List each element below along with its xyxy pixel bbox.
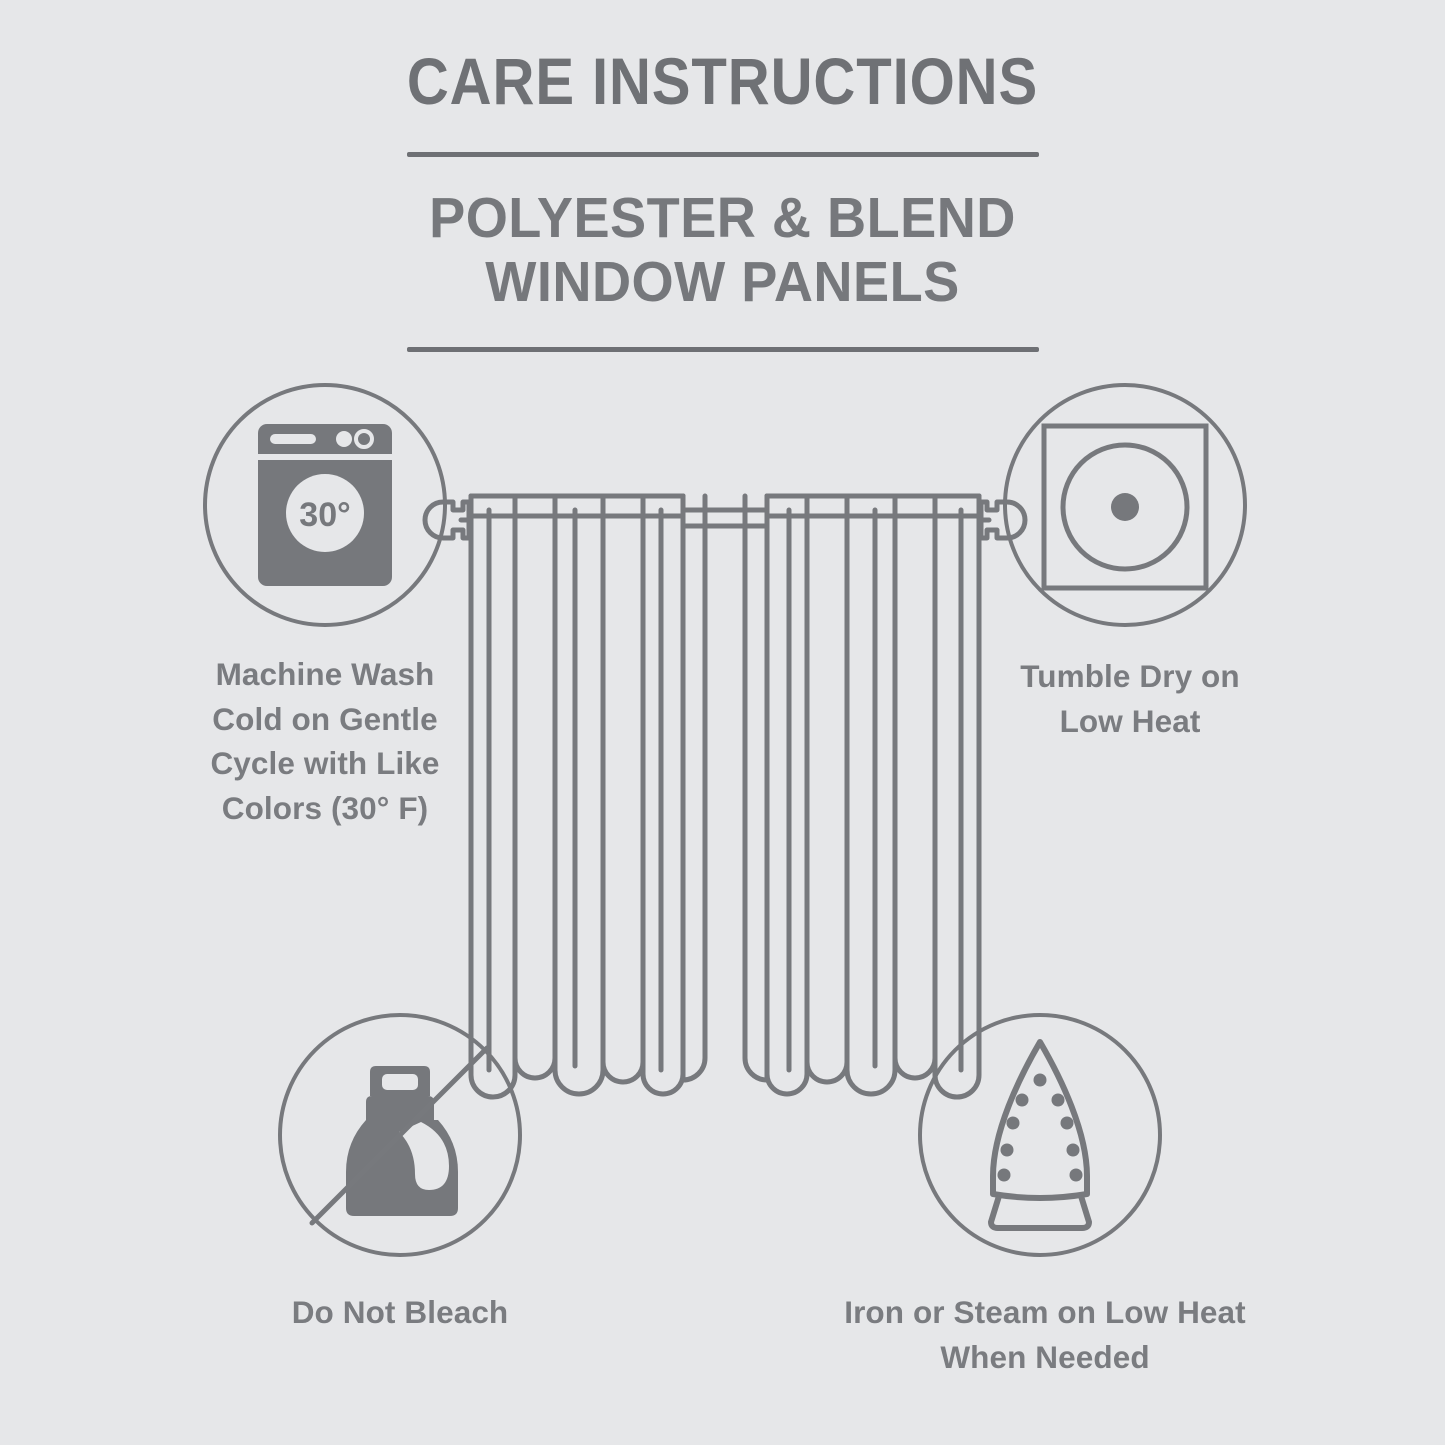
- caption-line: Cold on Gentle: [70, 697, 580, 742]
- iron-caption: Iron or Steam on Low Heat When Needed: [790, 1290, 1300, 1379]
- washer-panel-divider: [258, 454, 392, 460]
- washer-knob-solid: [336, 431, 352, 447]
- machine-wash-badge: 30°: [200, 380, 450, 630]
- curtain-rod: [683, 510, 767, 526]
- divider-bottom: [407, 347, 1039, 352]
- badge-ring: [920, 1015, 1160, 1255]
- washer-control-bar: [270, 434, 316, 444]
- caption-line: When Needed: [790, 1335, 1300, 1380]
- tumble-dry-caption: Tumble Dry on Low Heat: [875, 654, 1385, 743]
- iron-badge: [915, 1010, 1165, 1260]
- tumble-dry-icon: [1000, 380, 1250, 630]
- wash-temperature-label: 30°: [299, 496, 350, 534]
- bleach-jug: [346, 1066, 458, 1216]
- care-item-do-not-bleach: Do Not Bleach: [145, 1010, 655, 1335]
- care-item-iron: Iron or Steam on Low Heat When Needed: [790, 1010, 1300, 1379]
- page-title: CARE INSTRUCTIONS: [87, 0, 1359, 114]
- dryer-heat-dot: [1111, 493, 1139, 521]
- header: CARE INSTRUCTIONS POLYESTER & BLEND WIND…: [0, 0, 1445, 352]
- caption-line: Machine Wash: [70, 652, 580, 697]
- subtitle-line-1: POLYESTER & BLEND: [36, 187, 1409, 251]
- page-subtitle: POLYESTER & BLEND WINDOW PANELS: [36, 157, 1409, 315]
- caption-line: Tumble Dry on: [875, 654, 1385, 699]
- washing-machine-icon: 30°: [200, 380, 450, 630]
- care-instructions-infographic: CARE INSTRUCTIONS POLYESTER & BLEND WIND…: [0, 0, 1445, 1445]
- subtitle-line-2: WINDOW PANELS: [36, 251, 1409, 315]
- caption-line: Do Not Bleach: [145, 1290, 655, 1335]
- do-not-bleach-caption: Do Not Bleach: [145, 1290, 655, 1335]
- caption-line: Colors (30° F): [70, 786, 580, 831]
- machine-wash-caption: Machine Wash Cold on Gentle Cycle with L…: [70, 652, 580, 831]
- care-item-machine-wash: 30° Machine Wash Cold on Gentle Cycle wi…: [70, 380, 580, 831]
- caption-line: Cycle with Like: [70, 741, 580, 786]
- care-item-tumble-dry: Tumble Dry on Low Heat: [875, 380, 1385, 743]
- iron-icon: [915, 1010, 1165, 1260]
- no-bleach-icon: [275, 1010, 525, 1260]
- iron-steam-holes: [998, 1074, 1083, 1182]
- caption-line: Low Heat: [875, 699, 1385, 744]
- tumble-dry-badge: [1000, 380, 1250, 630]
- do-not-bleach-badge: [275, 1010, 525, 1260]
- caption-line: Iron or Steam on Low Heat: [790, 1290, 1300, 1335]
